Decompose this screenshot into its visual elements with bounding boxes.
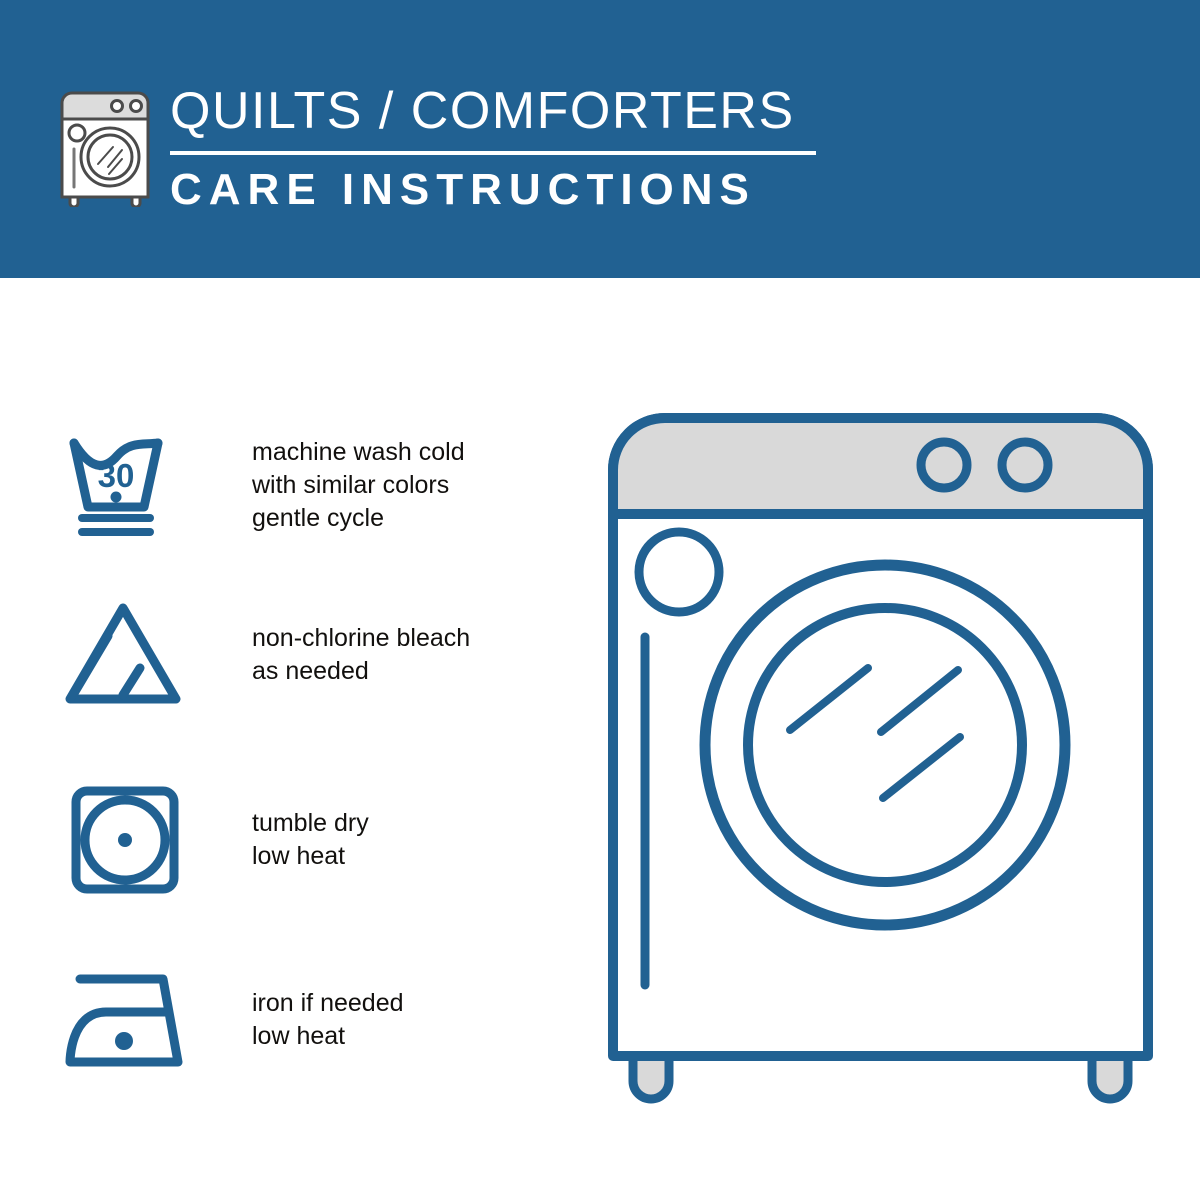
care-row-label: iron if needed low heat: [252, 987, 404, 1053]
care-row: 30 machine wash cold with similar colors…: [0, 420, 560, 550]
care-instructions-infographic: QUILTS / COMFORTERS CARE INSTRUCTIONS 30: [0, 0, 1200, 1200]
care-row-label: tumble dry low heat: [252, 807, 369, 873]
page-title-secondary: CARE INSTRUCTIONS: [170, 163, 830, 217]
non-chlorine-bleach-triangle-icon: [60, 590, 190, 720]
care-row-label: non-chlorine bleach as needed: [252, 622, 470, 688]
header-banner: QUILTS / COMFORTERS CARE INSTRUCTIONS: [0, 0, 1200, 278]
detergent-dispenser-circle: [639, 532, 719, 612]
front-load-washing-machine-illustration: [600, 405, 1170, 1120]
title-divider: [170, 151, 816, 155]
iron-low-heat-icon: [60, 955, 190, 1085]
door-inner-ring: [748, 608, 1022, 882]
header-title-block: QUILTS / COMFORTERS CARE INSTRUCTIONS: [170, 80, 830, 217]
tumble-dry-low-icon: [60, 775, 190, 905]
care-row: non-chlorine bleach as needed: [0, 590, 560, 720]
page-title-primary: QUILTS / COMFORTERS: [170, 80, 830, 142]
svg-text:30: 30: [98, 457, 135, 494]
control-knob-right: [1002, 442, 1048, 488]
care-row: iron if needed low heat: [0, 955, 560, 1085]
care-row-label: machine wash cold with similar colors ge…: [252, 436, 465, 535]
control-knob-left: [921, 442, 967, 488]
care-row: tumble dry low heat: [0, 775, 560, 905]
wash-tub-30-icon: 30: [60, 420, 190, 550]
washing-machine-logo-icon: [52, 85, 158, 207]
